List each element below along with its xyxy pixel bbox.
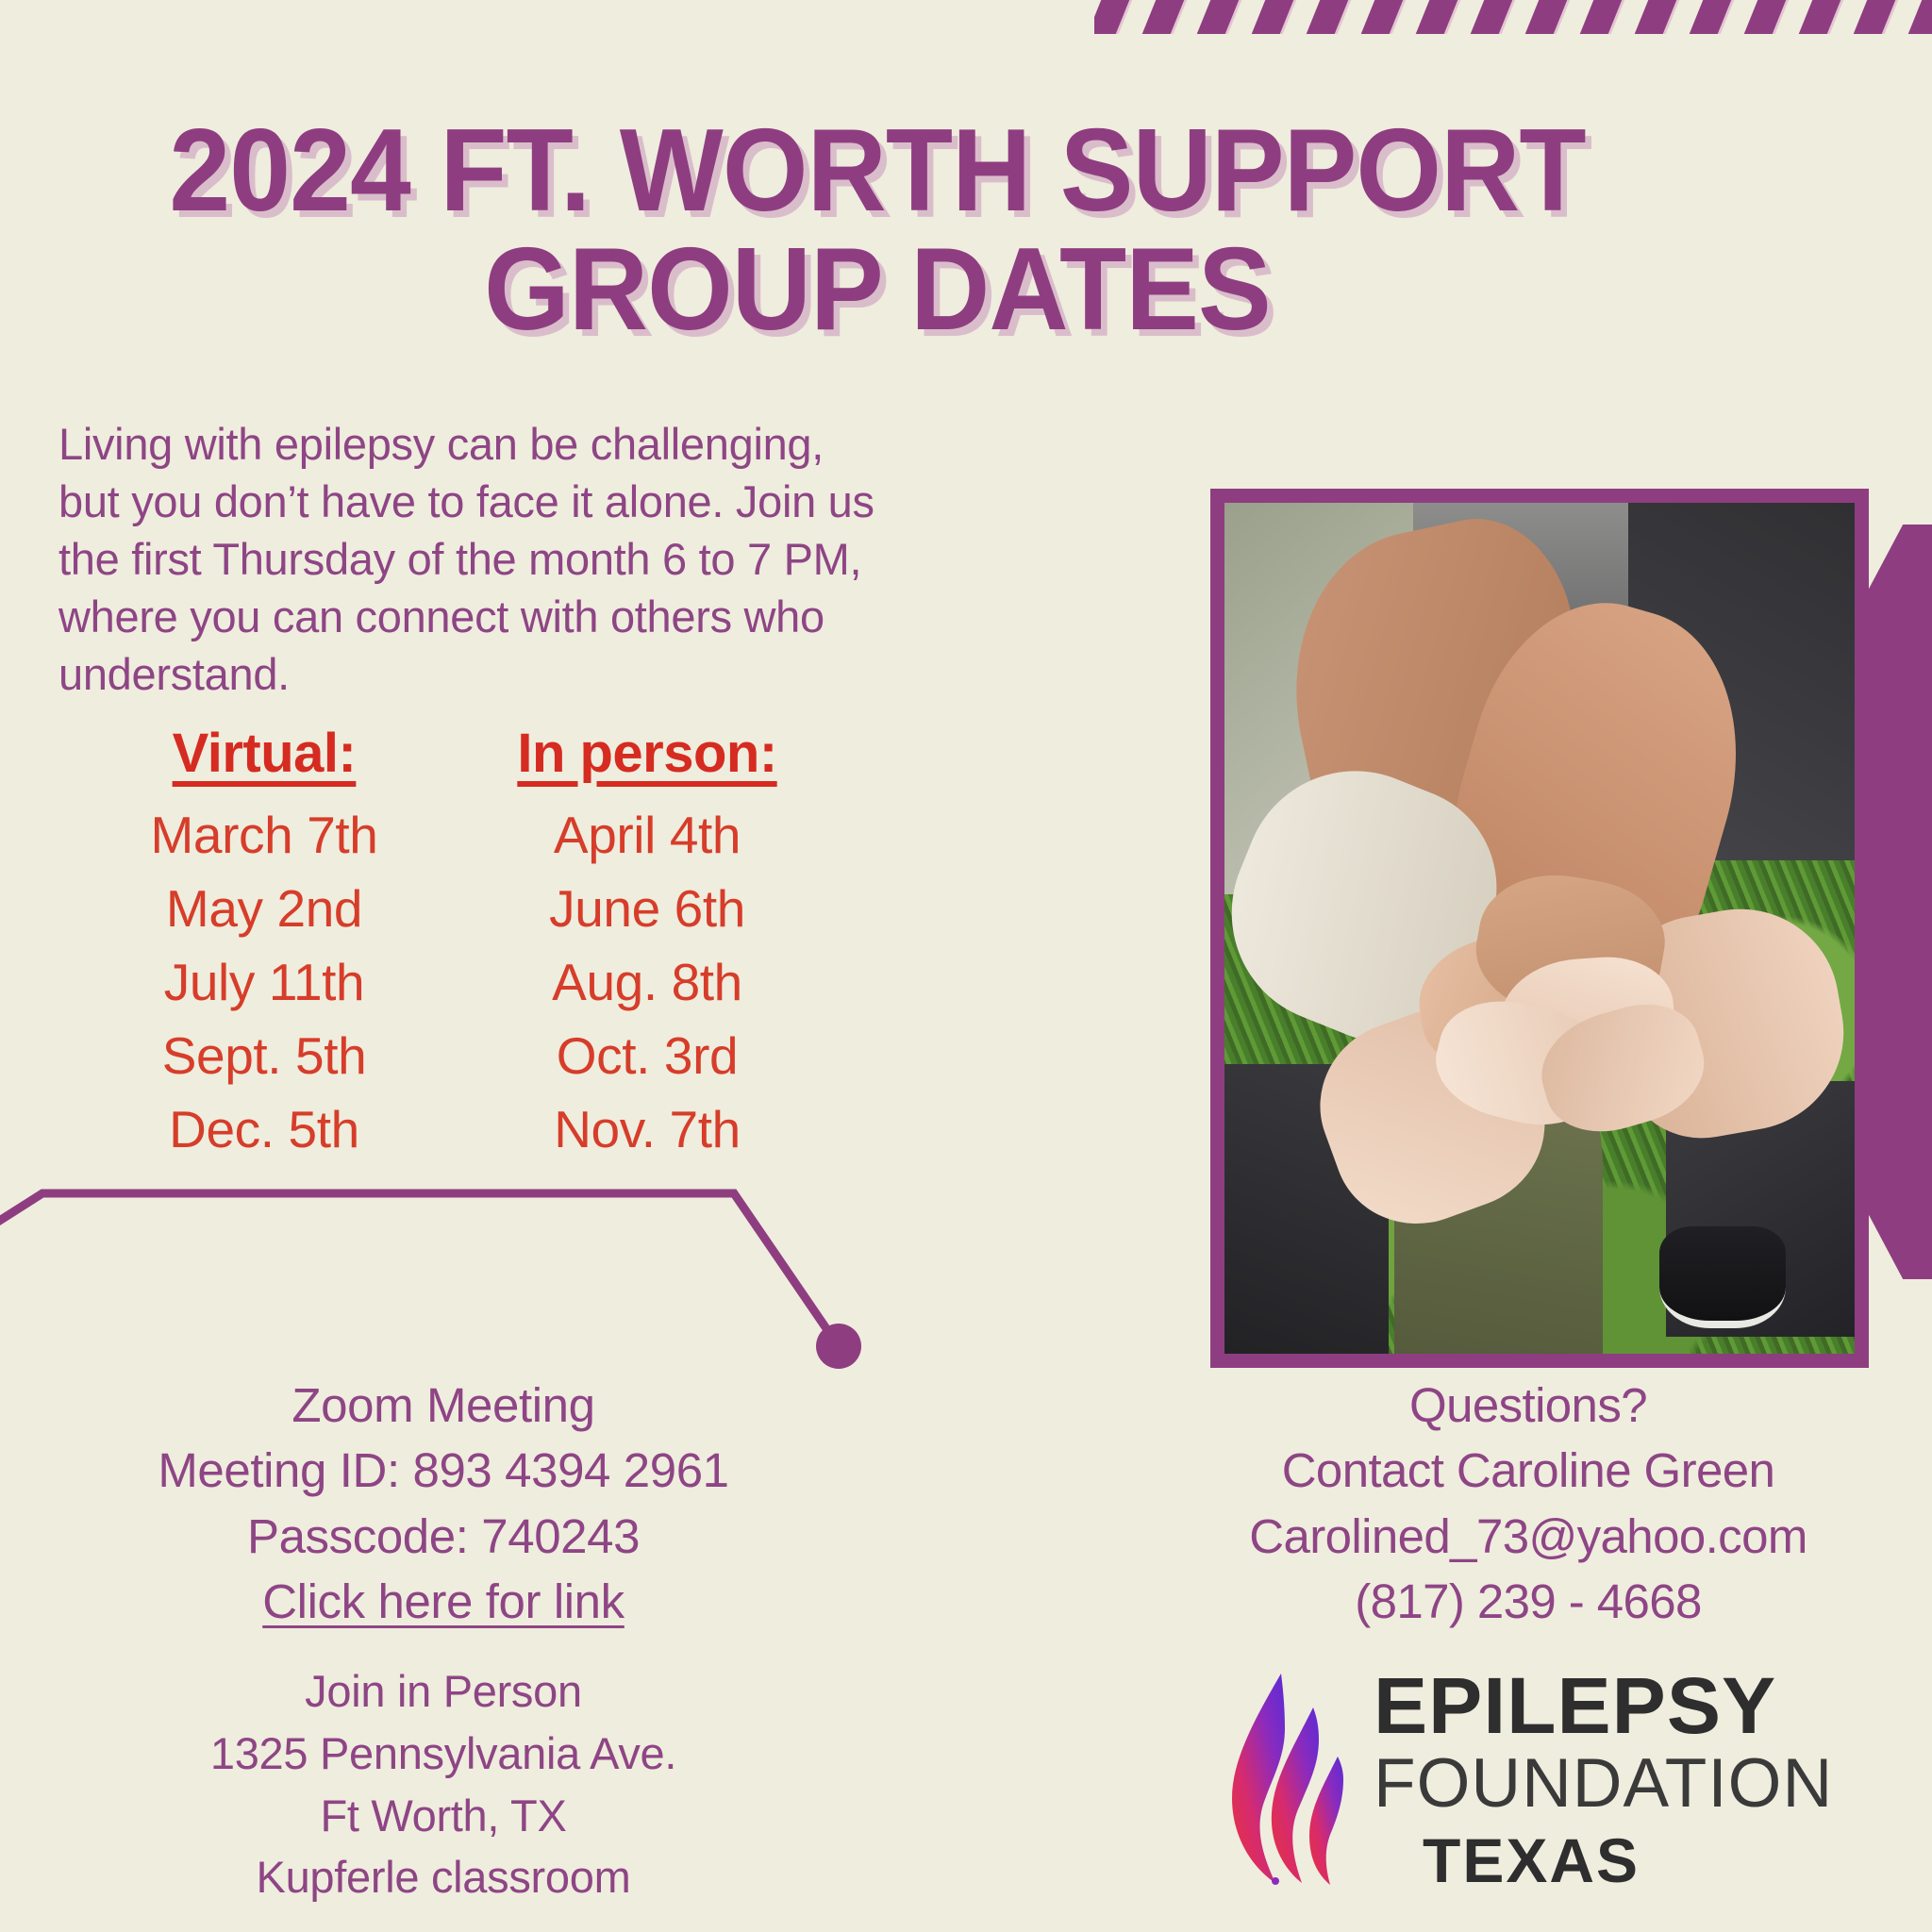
page-title: 2024 FT. WORTH SUPPORT GROUP DATES xyxy=(53,111,1702,350)
virtual-dates-column: Virtual: March 7th May 2nd July 11th Sep… xyxy=(132,722,396,1166)
decorative-polyline xyxy=(0,1184,906,1391)
in-person-dates-column: In person: April 4th June 6th Aug. 8th O… xyxy=(506,722,789,1166)
logo-epilepsy-text: EPILEPSY xyxy=(1374,1666,1842,1745)
flame-icon xyxy=(1226,1670,1349,1887)
stripe-bar xyxy=(1740,0,1790,34)
list-item: July 11th xyxy=(132,945,396,1019)
epilepsy-foundation-texas-logo: EPILEPSY FOUNDATION TEXAS xyxy=(1226,1660,1906,1896)
stripe-bar xyxy=(1094,0,1133,34)
poster-canvas: 2024 FT. WORTH SUPPORT GROUP DATES Livin… xyxy=(0,0,1932,1932)
stripe-bar xyxy=(1576,0,1626,34)
stripe-bar xyxy=(1303,0,1353,34)
zoom-meeting-id: Meeting ID: 893 4394 2961 xyxy=(57,1438,830,1503)
zoom-meeting-label: Zoom Meeting xyxy=(57,1373,830,1438)
logo-wordmark: EPILEPSY FOUNDATION TEXAS xyxy=(1374,1666,1833,1891)
list-item: Oct. 3rd xyxy=(506,1019,789,1092)
contact-block: Questions? Contact Caroline Green Caroli… xyxy=(1151,1373,1906,1634)
zoom-passcode: Passcode: 740243 xyxy=(57,1504,830,1569)
zoom-meeting-block: Zoom Meeting Meeting ID: 893 4394 2961 P… xyxy=(57,1373,830,1634)
list-item: Sept. 5th xyxy=(132,1019,396,1092)
logo-foundation-text: FOUNDATION xyxy=(1374,1749,1833,1818)
virtual-heading: Virtual: xyxy=(132,722,396,785)
stripe-bar xyxy=(1193,0,1243,34)
list-item: Aug. 8th xyxy=(506,945,789,1019)
logo-texas-text: TEXAS xyxy=(1423,1829,1640,1891)
stripe-bar xyxy=(1850,0,1900,34)
address-street: 1325 Pennsylvania Ave. xyxy=(57,1723,830,1785)
in-person-address-block: Join in Person 1325 Pennsylvania Ave. Ft… xyxy=(57,1660,830,1908)
intro-paragraph: Living with epilepsy can be challenging,… xyxy=(58,415,889,703)
contact-email: Carolined_73@yahoo.com xyxy=(1151,1504,1906,1569)
list-item: June 6th xyxy=(506,872,789,945)
in-person-heading: In person: xyxy=(506,722,789,785)
stripe-bar xyxy=(1357,0,1407,34)
list-item: April 4th xyxy=(506,798,789,872)
stripe-bar xyxy=(1522,0,1572,34)
contact-phone: (817) 239 - 4668 xyxy=(1151,1569,1906,1634)
questions-label: Questions? xyxy=(1151,1373,1906,1438)
list-item: Nov. 7th xyxy=(506,1092,789,1166)
join-in-person-label: Join in Person xyxy=(57,1660,830,1723)
hands-photo xyxy=(1224,503,1855,1354)
stripe-bar xyxy=(1686,0,1736,34)
stripe-bar xyxy=(1795,0,1845,34)
hands-photo-frame xyxy=(1210,489,1869,1368)
stacked-hands xyxy=(1413,860,1703,1150)
list-item: May 2nd xyxy=(132,872,396,945)
shoe xyxy=(1659,1226,1786,1328)
stripe-bar xyxy=(1412,0,1462,34)
address-city-state: Ft Worth, TX xyxy=(57,1785,830,1847)
stripe-bar xyxy=(1139,0,1189,34)
list-item: March 7th xyxy=(132,798,396,872)
diagonal-stripes-decoration xyxy=(1094,0,1932,34)
stripe-bar xyxy=(1467,0,1517,34)
stripe-bar xyxy=(1248,0,1298,34)
contact-name: Contact Caroline Green xyxy=(1151,1438,1906,1503)
list-item: Dec. 5th xyxy=(132,1092,396,1166)
address-room: Kupferle classroom xyxy=(57,1846,830,1908)
stripe-bar xyxy=(1905,0,1932,34)
zoom-link[interactable]: Click here for link xyxy=(262,1569,625,1634)
stripe-bar xyxy=(1631,0,1681,34)
dates-section: Virtual: March 7th May 2nd July 11th Sep… xyxy=(132,722,943,1166)
